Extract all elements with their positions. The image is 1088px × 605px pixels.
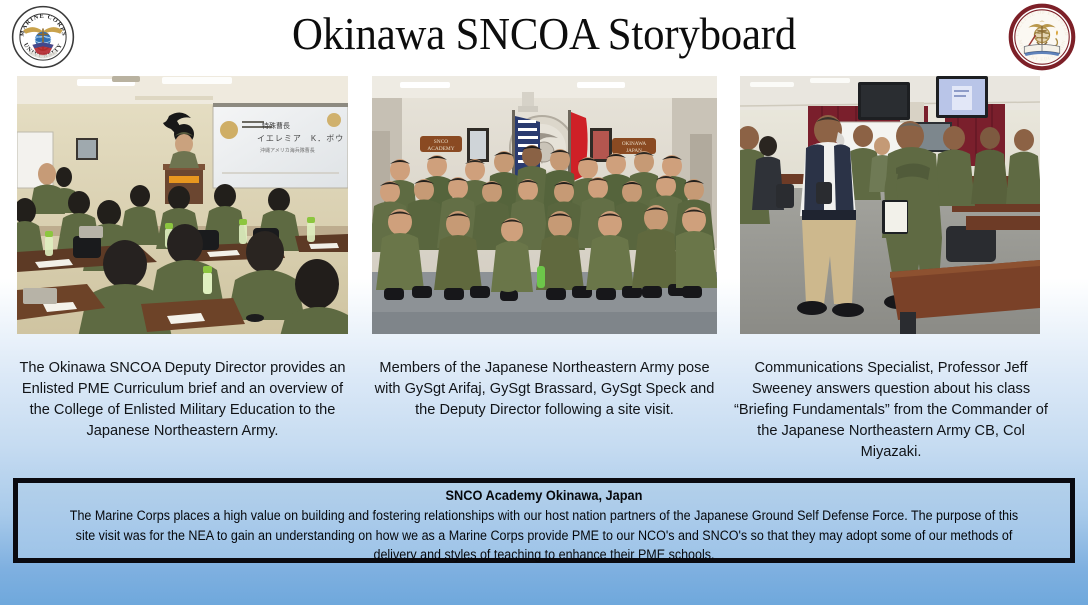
summary-title: SNCO Academy Okinawa, Japan [59,487,1029,505]
summary-box: SNCO Academy Okinawa, Japan The Marine C… [13,478,1075,563]
storyboard-slide: MARINE CORPS UNIVERSITY [0,0,1088,605]
page-title: Okinawa SNCOA Storyboard [38,6,1050,62]
caption-photo-1: The Okinawa SNCOA Deputy Director provid… [17,358,348,442]
svg-text:イエレミア K．ボウ: イエレミア K．ボウ [257,134,344,143]
caption-row: The Okinawa SNCOA Deputy Director provid… [0,358,1088,470]
slide-header: MARINE CORPS UNIVERSITY [0,0,1088,74]
caption-photo-3: Communications Specialist, Professor Jef… [726,358,1056,463]
svg-text:SNCO: SNCO [434,139,448,145]
svg-text:ACADEMY: ACADEMY [427,146,454,152]
summary-body: The Marine Corps places a high value on … [62,506,1027,565]
svg-text:沖縄アメリカ海兵隊曹長: 沖縄アメリカ海兵隊曹長 [260,147,315,154]
svg-text:OKINAWA: OKINAWA [622,141,647,147]
caption-photo-2: Members of the Japanese Northeastern Arm… [372,358,717,421]
photo-row: 特殊曹長 イエレミア K．ボウ 沖縄アメリカ海兵隊曹長 [0,76,1088,334]
svg-text:特殊曹長: 特殊曹長 [262,121,290,130]
photo-discussion [740,76,1040,334]
photo-classroom-brief: 特殊曹長 イエレミア K．ボウ 沖縄アメリカ海兵隊曹長 [17,76,348,334]
college-of-enlisted-military-education-seal-icon: COLLEGE OF ENLISTED MILITARY EDUCATION [1008,3,1076,71]
photo-group-pose: SNCO ACADEMY OKINAWA JAPAN [372,76,717,334]
